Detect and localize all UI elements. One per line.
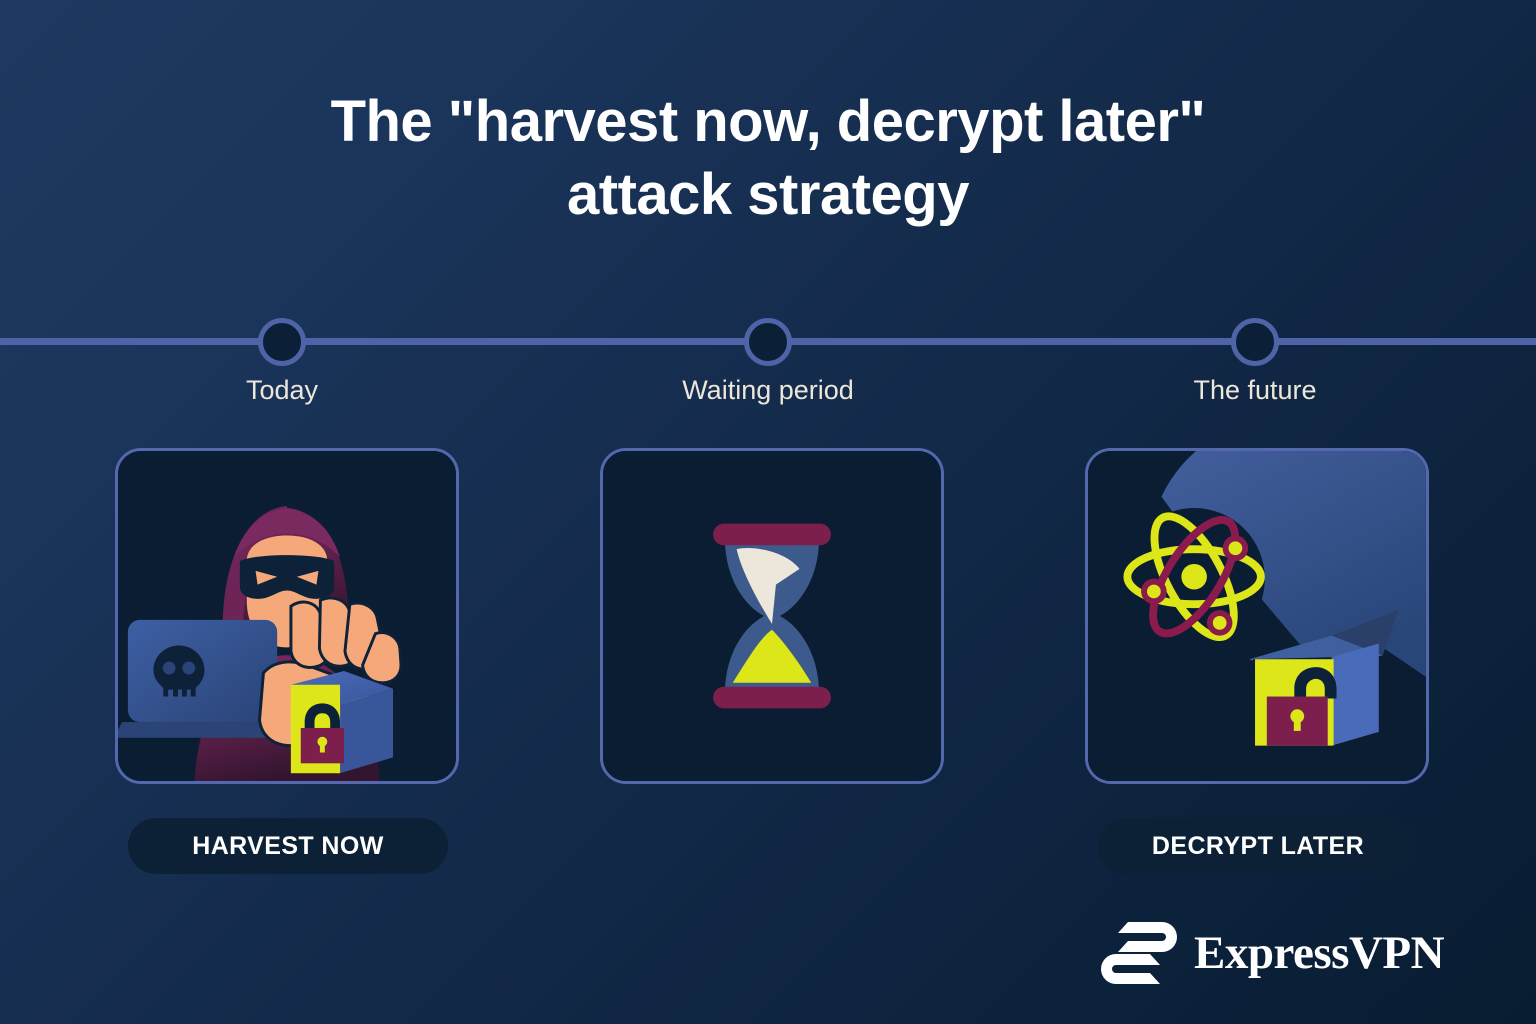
quantum-card [1085, 448, 1429, 784]
timeline-label-the-future: The future [1045, 375, 1465, 406]
infographic-canvas: The "harvest now, decrypt later" attack … [0, 0, 1536, 1024]
timeline-node-the-future [1231, 318, 1279, 366]
expressvpn-e-mark-icon [1098, 918, 1180, 988]
badge-decrypt-later: DECRYPT LATER [1098, 818, 1418, 874]
hourglass-card [600, 448, 944, 784]
atom-and-open-box-icon [1088, 451, 1426, 781]
locked-box-icon [291, 671, 393, 773]
badge-harvest-now: HARVEST NOW [128, 818, 448, 874]
page-title: The "harvest now, decrypt later" attack … [0, 86, 1536, 231]
timeline-label-today: Today [72, 375, 492, 406]
timeline-node-today [258, 318, 306, 366]
hourglass-icon [603, 451, 941, 781]
timeline-node-waiting-period [744, 318, 792, 366]
hacker-card [115, 448, 459, 784]
expressvpn-logo: ExpressVPN [1098, 918, 1444, 988]
atom-nucleus [1181, 564, 1207, 590]
hacker-at-laptop-icon [118, 451, 456, 781]
expressvpn-wordmark: ExpressVPN [1194, 926, 1444, 980]
timeline-label-waiting-period: Waiting period [558, 375, 978, 406]
